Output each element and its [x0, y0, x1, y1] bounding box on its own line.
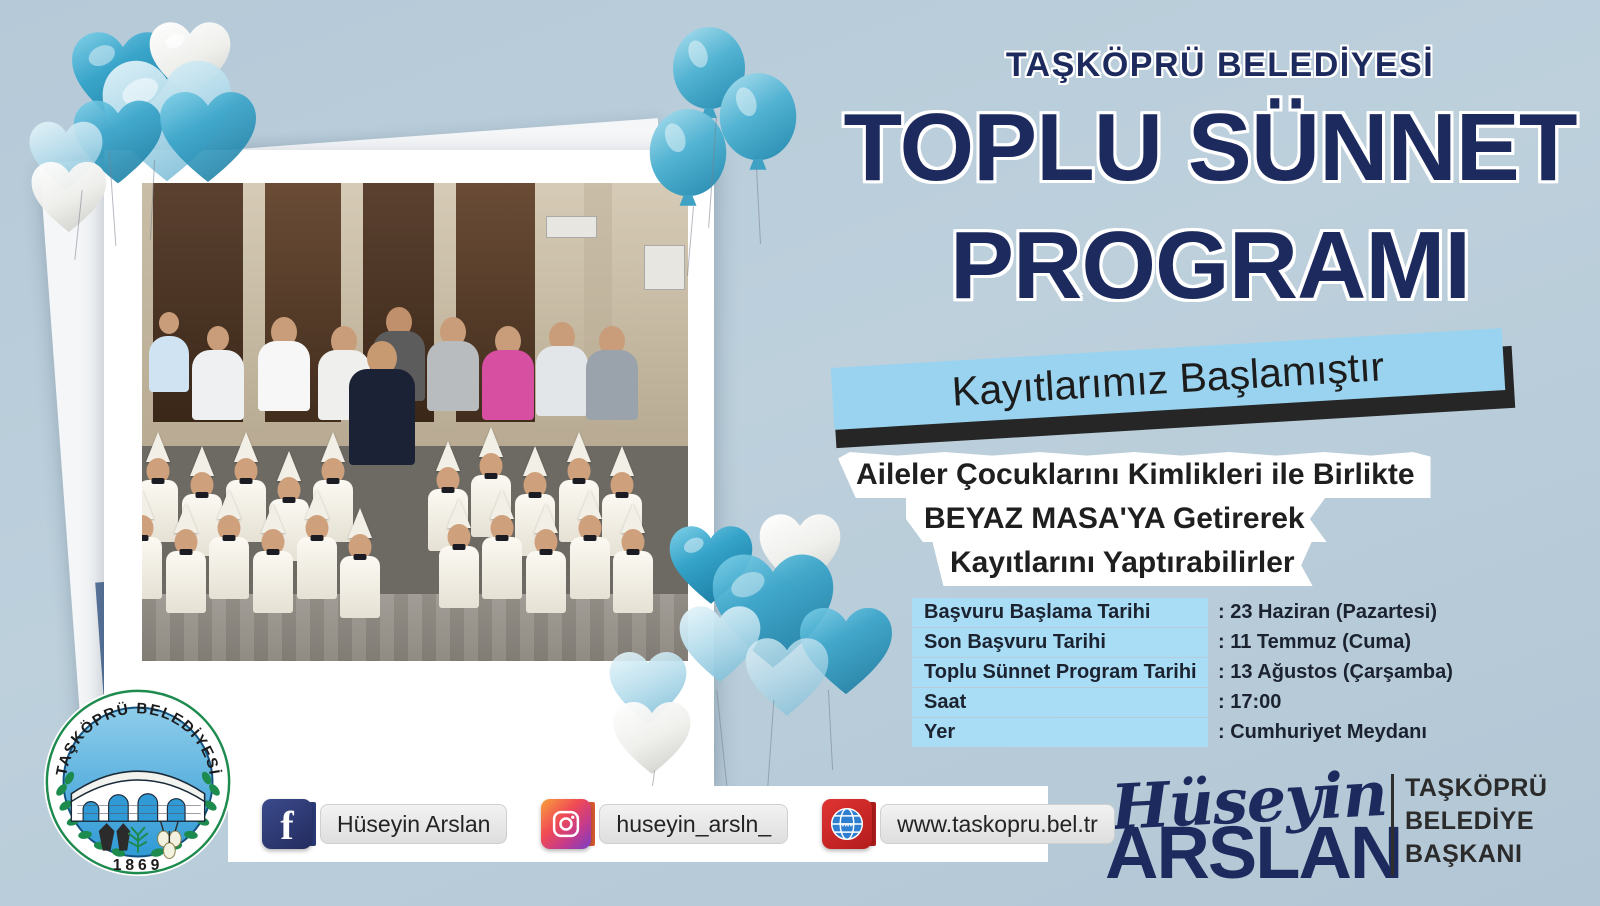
headline-line-1: TOPLU SÜNNET [820, 104, 1600, 192]
instagram-handle[interactable]: huseyin_arsln_ [599, 804, 788, 844]
mayor-title-line-3: BAŞKANI [1405, 838, 1547, 871]
info-label: Yer [912, 718, 1208, 747]
headline-line-2: PROGRAMI [820, 222, 1600, 310]
mayor-title: TAŞKÖPRÜ BELEDİYE BAŞKANI [1405, 772, 1547, 871]
instagram-icon[interactable] [541, 799, 591, 849]
mayor-surname: ARSLAN [1105, 810, 1401, 895]
website-icon[interactable]: www [822, 799, 872, 849]
info-label: Saat [912, 688, 1208, 717]
table-row: Yer : Cumhuriyet Meydanı [912, 718, 1472, 747]
website-url[interactable]: www.taskopru.bel.tr [880, 804, 1115, 844]
event-info-table: Başvuru Başlama Tarihi : 23 Haziran (Paz… [912, 598, 1472, 748]
heart-balloon-icon [744, 636, 830, 718]
facebook-icon[interactable]: f [262, 799, 312, 849]
instagram-entry[interactable]: huseyin_arsln_ [541, 799, 788, 849]
kicker-text: TAŞKÖPRÜ BELEDİYESİ [900, 46, 1540, 85]
facebook-entry[interactable]: f Hüseyin Arslan [262, 799, 507, 849]
municipality-seal: TAŞKÖPRÜ BELEDİYESİ 1869 [40, 684, 236, 880]
svg-text:www: www [838, 822, 856, 829]
event-photo [142, 183, 688, 661]
heart-balloon-icon [158, 90, 258, 184]
facebook-glyph: f [280, 806, 293, 846]
heart-balloon-icon [612, 700, 692, 776]
poster-canvas: TAŞKÖPRÜ BELEDİYESİ TOPLU SÜNNET PROGRAM… [0, 0, 1600, 906]
table-row: Son Başvuru Tarihi : 11 Temmuz (Cuma) [912, 628, 1472, 657]
notice-line-3: Kayıtlarını Yaptırabilirler [932, 540, 1313, 586]
website-entry[interactable]: www www.taskopru.bel.tr [822, 799, 1115, 849]
social-media-bar: f Hüseyin Arslan huseyin_arsln_ [228, 786, 1048, 862]
round-balloon-icon [718, 72, 798, 179]
globe-glyph: www [829, 806, 865, 842]
mayor-title-line-2: BELEDİYE [1405, 805, 1547, 838]
table-row: Toplu Sünnet Program Tarihi : 13 Ağustos… [912, 658, 1472, 687]
mayor-signature-block: Hüseyin ARSLAN TAŞKÖPRÜ BELEDİYE BAŞKANI [1105, 768, 1585, 888]
info-label: Başvuru Başlama Tarihi [912, 598, 1208, 627]
signature-divider [1391, 774, 1394, 876]
notice-line-1: Aileler Çocuklarını Kimlikleri ile Birli… [838, 452, 1431, 498]
info-label: Toplu Sünnet Program Tarihi [912, 658, 1208, 687]
info-value: : 13 Ağustos (Çarşamba) [1208, 658, 1453, 687]
table-row: Saat : 17:00 [912, 688, 1472, 717]
registration-banner: Kayıtlarımız Başlamıştır [826, 336, 1526, 432]
instagram-glyph [551, 809, 581, 839]
info-value: : 17:00 [1208, 688, 1281, 717]
info-value: : Cumhuriyet Meydanı [1208, 718, 1427, 747]
table-row: Başvuru Başlama Tarihi : 23 Haziran (Paz… [912, 598, 1472, 627]
info-label: Son Başvuru Tarihi [912, 628, 1208, 657]
mayor-title-line-1: TAŞKÖPRÜ [1405, 772, 1547, 805]
notice-line-2: BEYAZ MASA'YA Getirerek [906, 496, 1327, 542]
info-value: : 11 Temmuz (Cuma) [1208, 628, 1411, 657]
heart-balloon-icon [30, 160, 108, 234]
seal-year: 1869 [113, 857, 164, 874]
info-value: : 23 Haziran (Pazartesi) [1208, 598, 1437, 627]
facebook-handle[interactable]: Hüseyin Arslan [320, 804, 507, 844]
